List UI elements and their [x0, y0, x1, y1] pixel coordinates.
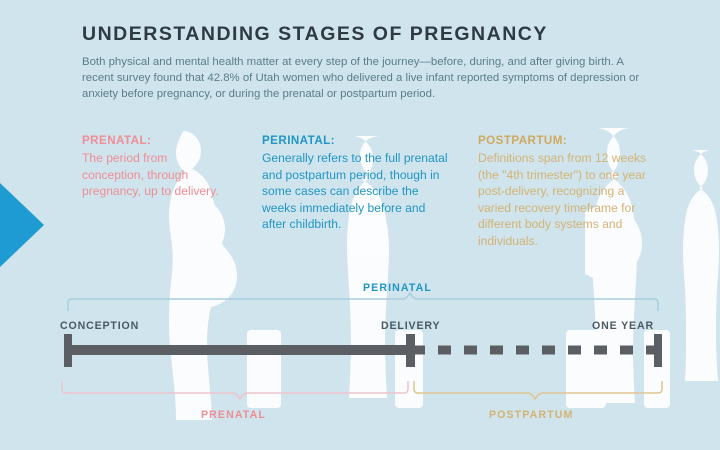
brace-label-prenatal: PRENATAL — [201, 409, 266, 421]
tick-one-year — [654, 334, 662, 367]
tick-conception — [64, 334, 72, 367]
left-accent-arrow-icon — [0, 183, 44, 267]
brace-label-postpartum: POSTPARTUM — [489, 409, 573, 421]
tick-delivery — [406, 334, 415, 367]
header: UNDERSTANDING STAGES OF PREGNANCY Both p… — [82, 24, 682, 102]
infographic-canvas: UNDERSTANDING STAGES OF PREGNANCY Both p… — [0, 0, 720, 450]
intro-paragraph: Both physical and mental health matter a… — [82, 55, 657, 102]
brace-label-perinatal: PERINATAL — [363, 282, 432, 294]
column-body-perinatal: Generally refers to the full prenatal an… — [262, 150, 448, 233]
brace-postpartum — [414, 381, 662, 399]
column-body-postpartum: Definitions span from 12 weeks (the "4th… — [478, 150, 658, 250]
brace-prenatal — [62, 381, 408, 399]
column-heading-postpartum: POSTPARTUM: — [478, 133, 658, 148]
column-body-prenatal: The period from conception, through preg… — [82, 150, 230, 200]
timeline-label-one-year: ONE YEAR — [592, 320, 654, 332]
page-title: UNDERSTANDING STAGES OF PREGNANCY — [82, 24, 682, 45]
definition-column-postpartum: POSTPARTUM: Definitions span from 12 wee… — [478, 133, 658, 250]
definition-column-prenatal: PRENATAL: The period from conception, th… — [82, 133, 230, 200]
definition-column-perinatal: PERINATAL: Generally refers to the full … — [262, 133, 448, 233]
column-heading-prenatal: PRENATAL: — [82, 133, 230, 148]
column-heading-perinatal: PERINATAL: — [262, 133, 448, 148]
brace-perinatal — [68, 293, 658, 311]
timeline-label-delivery: DELIVERY — [381, 320, 440, 332]
timeline-bar-solid — [68, 345, 410, 355]
timeline-label-conception: CONCEPTION — [60, 320, 139, 332]
